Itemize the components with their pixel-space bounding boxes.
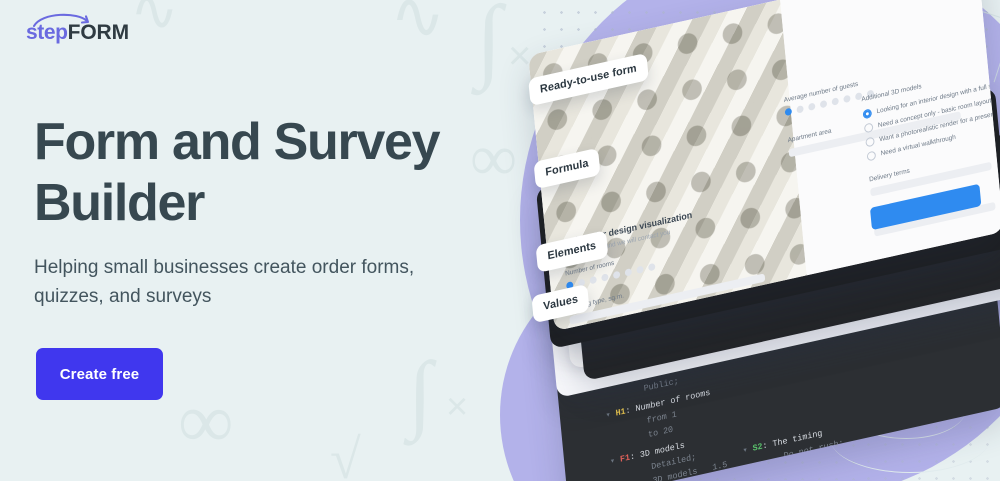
radio-option[interactable] [867,150,877,161]
product-illustration: ▾ S1: Building type Small; Big; Very big… [520,0,1000,481]
infinity-icon: ∞ [178,382,234,460]
form-fields-panel: 3D interior design visualization Fill in… [780,0,1000,275]
sqrt-icon: √ [330,432,361,481]
wave-icon: ∿ [390,0,445,50]
create-free-button[interactable]: Create free [36,348,163,400]
radio-option[interactable] [865,136,875,147]
integral-icon: ∫ [476,0,502,86]
arc-arrow-icon [32,11,94,29]
page-root: ∫ × ∫ × ∞ ∞ √ ∿ ∿ step FORM Form and Sur… [0,0,1000,481]
wave-icon-2: ∿ [130,0,179,40]
integral-icon-2: ∫ [408,350,432,438]
times-icon-2: × [446,388,468,426]
page-title: Form and Survey Builder [34,112,504,234]
radio-option[interactable] [863,108,873,119]
page-subtitle: Helping small businesses create order fo… [34,254,484,311]
brand-logo[interactable]: step FORM [26,21,129,45]
